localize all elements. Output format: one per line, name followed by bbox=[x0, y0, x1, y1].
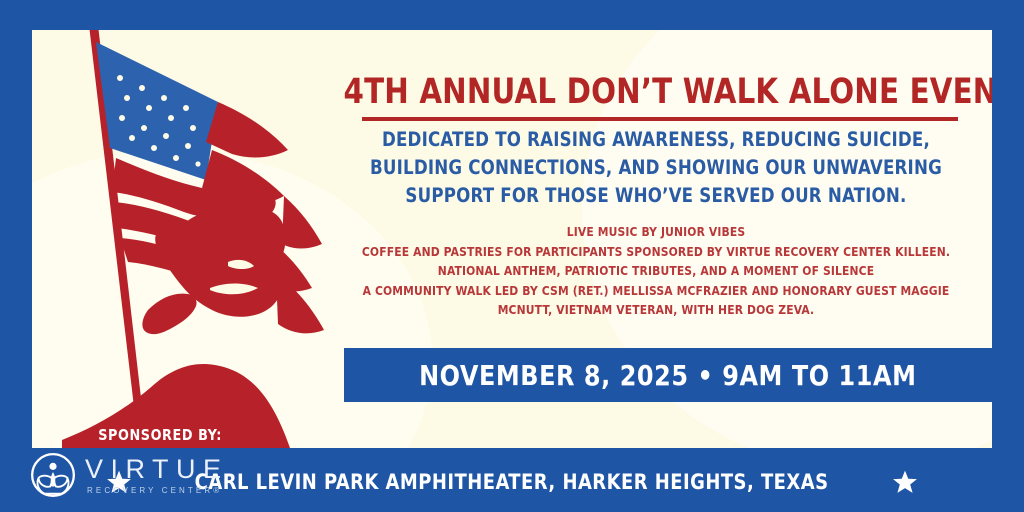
flag-and-soldier-artwork bbox=[32, 30, 332, 448]
date-time-text: NOVEMBER 8, 2025 • 9AM TO 11AM bbox=[419, 359, 916, 392]
flyer-content: 4TH ANNUAL DON’T WALK ALONE EVENT DEDICA… bbox=[320, 30, 992, 448]
venue-text: CARL LEVIN PARK AMPHITHEATER, HARKER HEI… bbox=[195, 470, 829, 494]
sponsor-logo-text: VIRTUE RECOVERY CENTER® bbox=[85, 456, 229, 495]
date-time-banner: NOVEMBER 8, 2025 • 9AM TO 11AM bbox=[344, 348, 992, 402]
page-title: 4TH ANNUAL DON’T WALK ALONE EVENT bbox=[344, 72, 969, 112]
star-icon bbox=[892, 469, 918, 495]
flyer-details: LIVE MUSIC BY JUNIOR VIBES COFFEE AND PA… bbox=[344, 222, 967, 320]
title-underline bbox=[362, 117, 958, 121]
flag-canton bbox=[96, 42, 218, 180]
detail-line: A COMMUNITY WALK LED BY CSM (RET.) MELLI… bbox=[344, 281, 967, 301]
sponsored-by-label: SPONSORED BY: bbox=[98, 426, 222, 444]
flyer-subtitle: DEDICATED TO RAISING AWARENESS, REDUCING… bbox=[344, 126, 967, 210]
detail-line: NATIONAL ANTHEM, PATRIOTIC TRIBUTES, AND… bbox=[344, 261, 967, 281]
sponsor-logo: VIRTUE RECOVERY CENTER® bbox=[30, 452, 229, 498]
virtue-lotus-icon bbox=[30, 452, 76, 498]
detail-line: MCNUTT, VIETNAM VETERAN, WITH HER DOG ZE… bbox=[344, 300, 967, 320]
sponsor-name: VIRTUE bbox=[85, 456, 229, 483]
flyer-card: 4TH ANNUAL DON’T WALK ALONE EVENT DEDICA… bbox=[32, 30, 992, 448]
detail-line: COFFEE AND PASTRIES FOR PARTICIPANTS SPO… bbox=[344, 242, 967, 262]
soldier-arm bbox=[142, 294, 196, 335]
detail-line: LIVE MUSIC BY JUNIOR VIBES bbox=[344, 222, 967, 242]
sponsor-tagline: RECOVERY CENTER® bbox=[87, 487, 229, 495]
event-flyer: 4TH ANNUAL DON’T WALK ALONE EVENT DEDICA… bbox=[0, 0, 1024, 512]
